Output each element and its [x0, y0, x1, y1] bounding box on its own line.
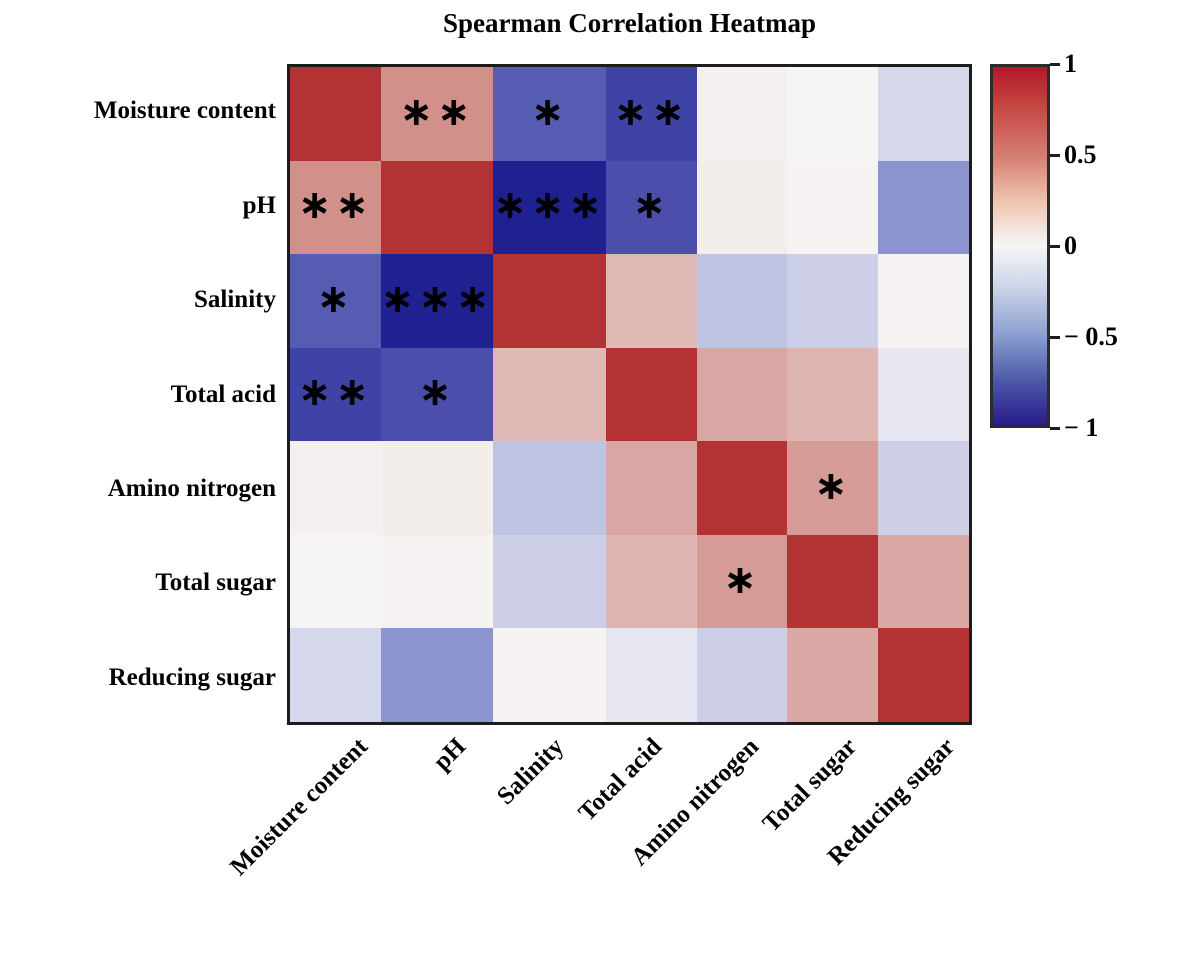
colorbar-tick-label: − 0.5 — [1064, 324, 1118, 350]
heatmap-cell: ∗∗ — [606, 67, 697, 161]
heatmap-cell — [606, 348, 697, 442]
heatmap-cell — [381, 161, 494, 255]
heatmap-cell: ∗ — [290, 254, 381, 348]
heatmap-cell: ∗ — [606, 161, 697, 255]
heatmap-cell — [606, 441, 697, 535]
heatmap-cell: ∗ — [787, 441, 878, 535]
y-axis-tick-label: Amino nitrogen — [0, 475, 276, 503]
x-axis-tick-label-text: Salinity — [492, 733, 570, 811]
heatmap-cell — [493, 254, 606, 348]
heatmap-plot-area: ∗∗∗∗∗∗∗∗∗∗∗∗∗∗∗∗∗∗∗∗ — [287, 64, 972, 725]
heatmap-cell — [878, 67, 969, 161]
heatmap-cell — [878, 161, 969, 255]
heatmap-cell — [878, 628, 969, 722]
colorbar-ticks: 10.50− 0.5− 1 — [1050, 64, 1170, 428]
significance-marker: ∗ — [317, 279, 355, 319]
heatmap-cell: ∗∗ — [290, 348, 381, 442]
colorbar-tick: 1 — [1050, 51, 1077, 77]
y-axis-tick-label: pH — [0, 192, 276, 220]
heatmap-cell — [493, 628, 606, 722]
heatmap-cell — [878, 254, 969, 348]
heatmap-cell — [697, 254, 788, 348]
colorbar-tick-mark — [1050, 245, 1060, 248]
heatmap-cell — [787, 161, 878, 255]
heatmap-cell: ∗∗∗ — [381, 254, 494, 348]
heatmap-cell — [381, 628, 494, 722]
colorbar-tick-label: 1 — [1064, 51, 1077, 77]
significance-marker: ∗ — [633, 185, 671, 225]
significance-marker: ∗∗ — [298, 185, 373, 225]
colorbar-tick: − 0.5 — [1050, 324, 1118, 350]
significance-marker: ∗ — [814, 466, 852, 506]
heatmap-cell — [697, 161, 788, 255]
x-axis-tick-label: Total sugar — [758, 733, 863, 838]
y-axis-tick-label: Total sugar — [0, 569, 276, 597]
heatmap-cell — [787, 628, 878, 722]
x-axis-tick-label: Moisture content — [225, 733, 374, 882]
colorbar-tick-mark — [1050, 427, 1060, 430]
colorbar-tick-label: 0 — [1064, 233, 1077, 259]
heatmap-cell — [606, 535, 697, 629]
heatmap-cell — [493, 348, 606, 442]
colorbar-tick-mark — [1050, 336, 1060, 339]
heatmap-cell: ∗∗ — [381, 67, 494, 161]
significance-marker: ∗∗ — [298, 372, 373, 412]
colorbar-tick-label: 0.5 — [1064, 142, 1097, 168]
x-axis-tick-labels: Moisture contentpHSalinityTotal acidAmin… — [287, 725, 972, 955]
significance-marker: ∗ — [531, 92, 569, 132]
x-axis-tick-label: pH — [428, 733, 471, 776]
heatmap-cell — [493, 535, 606, 629]
colorbar: 10.50− 0.5− 1 — [990, 64, 1050, 428]
heatmap-grid: ∗∗∗∗∗∗∗∗∗∗∗∗∗∗∗∗∗∗∗∗ — [290, 67, 969, 722]
heatmap-cell — [493, 441, 606, 535]
heatmap-cell — [697, 348, 788, 442]
heatmap-cell — [697, 67, 788, 161]
heatmap-cell: ∗∗ — [290, 161, 381, 255]
heatmap-cell — [878, 348, 969, 442]
y-axis-tick-label: Salinity — [0, 286, 276, 314]
colorbar-tick-mark — [1050, 154, 1060, 157]
chart-title: Spearman Correlation Heatmap — [287, 8, 972, 39]
heatmap-cell — [290, 628, 381, 722]
significance-marker: ∗ — [418, 372, 456, 412]
heatmap-cell — [290, 535, 381, 629]
colorbar-tick-label: − 1 — [1064, 415, 1098, 441]
heatmap-cell — [787, 348, 878, 442]
y-axis-tick-label: Moisture content — [0, 97, 276, 125]
x-axis-tick-label-text: Moisture content — [225, 733, 374, 882]
heatmap-cell — [878, 535, 969, 629]
significance-marker: ∗∗ — [614, 92, 689, 132]
x-axis-tick-label: Salinity — [492, 733, 570, 811]
heatmap-cell — [787, 254, 878, 348]
colorbar-tick: − 1 — [1050, 415, 1098, 441]
heatmap-cell — [381, 441, 494, 535]
y-axis-tick-label: Reducing sugar — [0, 664, 276, 692]
y-axis-tick-labels: Moisture contentpHSalinityTotal acidAmin… — [0, 64, 276, 725]
colorbar-tick-mark — [1050, 63, 1060, 66]
heatmap-cell — [697, 441, 788, 535]
heatmap-cell — [606, 254, 697, 348]
heatmap-cell: ∗ — [493, 67, 606, 161]
significance-marker: ∗∗∗ — [381, 279, 494, 319]
heatmap-cell — [290, 67, 381, 161]
heatmap-cell — [290, 441, 381, 535]
x-axis-tick-label-text: Total sugar — [758, 733, 863, 838]
significance-marker: ∗ — [723, 560, 761, 600]
colorbar-tick: 0 — [1050, 233, 1077, 259]
x-axis-tick-label-text: Total acid — [573, 733, 667, 827]
colorbar-gradient — [990, 64, 1050, 428]
spearman-correlation-heatmap-figure: Spearman Correlation Heatmap Moisture co… — [0, 0, 1177, 958]
colorbar-tick: 0.5 — [1050, 142, 1097, 168]
heatmap-cell: ∗ — [381, 348, 494, 442]
x-axis-tick-label-text: pH — [428, 733, 471, 776]
heatmap-cell — [787, 535, 878, 629]
heatmap-cell: ∗ — [697, 535, 788, 629]
heatmap-cell — [787, 67, 878, 161]
heatmap-cell — [878, 441, 969, 535]
y-axis-tick-label: Total acid — [0, 381, 276, 409]
significance-marker: ∗∗ — [400, 92, 475, 132]
significance-marker: ∗∗∗ — [493, 185, 606, 225]
x-axis-tick-label: Total acid — [573, 733, 667, 827]
heatmap-cell — [697, 628, 788, 722]
heatmap-cell — [381, 535, 494, 629]
heatmap-cell — [606, 628, 697, 722]
heatmap-cell: ∗∗∗ — [493, 161, 606, 255]
